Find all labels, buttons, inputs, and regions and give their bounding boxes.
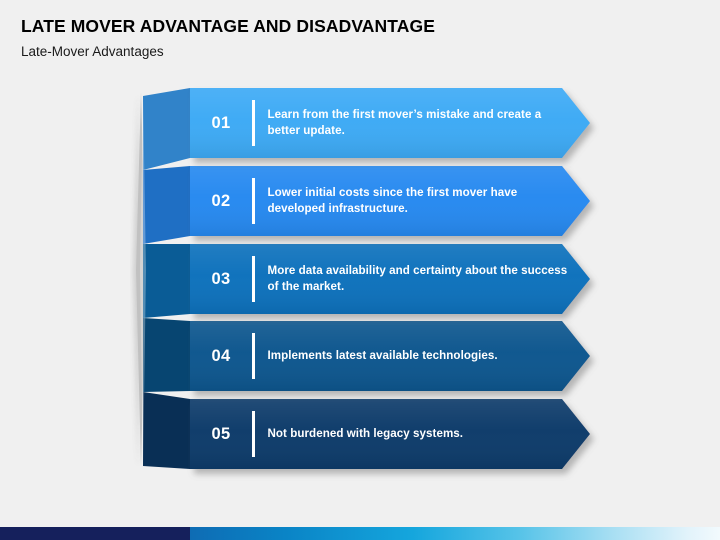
chevron-row-1-side (143, 88, 190, 170)
bottom-accent-bar (0, 527, 720, 540)
chevron-row-1[interactable] (143, 88, 590, 170)
chevron-row-2-sheen (190, 166, 590, 236)
chevron-row-5-side (143, 392, 190, 469)
bottom-accent-bar-dark-segment (0, 527, 190, 540)
chevron-row-3-sheen (190, 244, 590, 314)
chevron-row-5[interactable] (143, 392, 590, 469)
chevron-row-3-side (143, 244, 190, 318)
chevron-diagram: 01 Learn from the first mover’s mistake … (0, 0, 720, 500)
chevron-row-5-sheen (190, 399, 590, 469)
chevron-diagram-svg (0, 0, 720, 500)
chevron-row-2[interactable] (143, 166, 590, 244)
slide-canvas: LATE MOVER ADVANTAGE AND DISADVANTAGE La… (0, 0, 720, 540)
chevron-row-2-side (143, 166, 190, 244)
chevron-row-1-sheen (190, 88, 590, 158)
chevron-row-4[interactable] (143, 318, 590, 392)
chevron-row-4-sheen (190, 321, 590, 391)
chevron-row-3[interactable] (143, 244, 590, 318)
chevron-row-4-side (143, 318, 190, 392)
bottom-accent-bar-gradient-segment (190, 527, 720, 540)
